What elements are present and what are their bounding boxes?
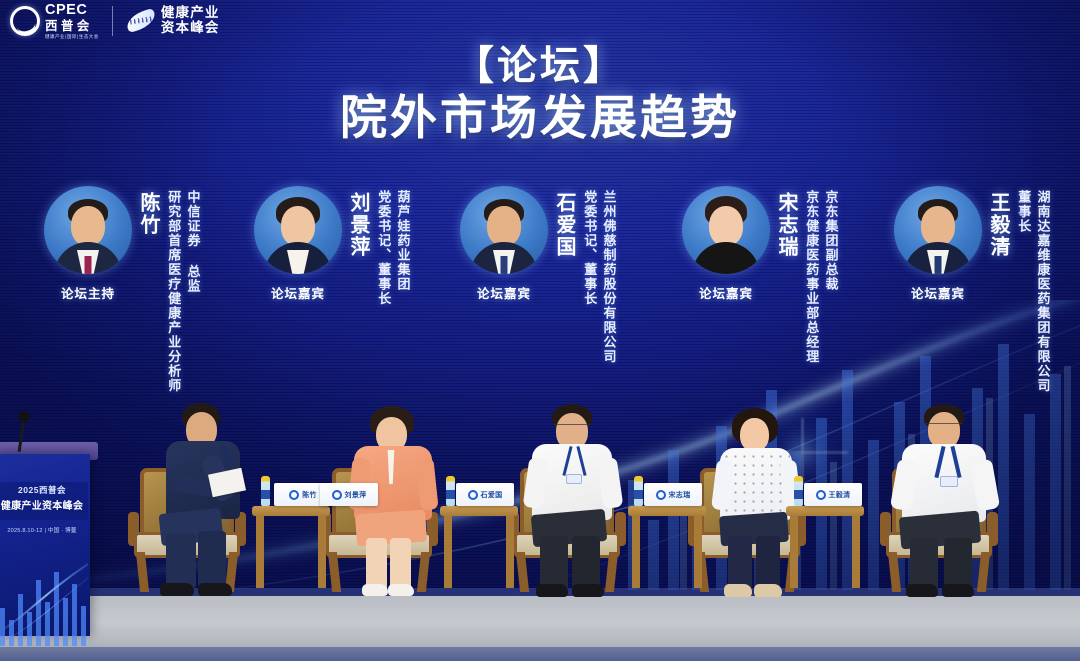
cpec-circle-icon xyxy=(10,6,40,36)
water-bottle xyxy=(794,476,803,506)
side-table-3: 宋志瑞 xyxy=(628,506,706,588)
side-table-4: 王毅清 xyxy=(786,506,864,588)
podium-line3: 2025.8.10-12 | 中国 · 博鳌 xyxy=(0,526,88,534)
panelist-title-line-0: 湖南达嘉维康医药集团有限公司 xyxy=(1034,190,1050,393)
panelist-role: 论坛主持 xyxy=(61,283,115,302)
panelist-card-4: 论坛嘉宾 王毅清 湖南达嘉维康医药集团有限公司 董事长 xyxy=(892,186,1051,393)
attendee-badge xyxy=(566,474,582,484)
nameplate-text: 刘景萍 xyxy=(345,490,367,500)
panelist-titles: 湖南达嘉维康医药集团有限公司 董事长 xyxy=(1012,190,1051,393)
panelist-titles: 葫芦娃药业集团 党委书记、董事长 xyxy=(372,190,411,306)
forum-title: 【论坛】 院外市场发展趋势 xyxy=(0,44,1080,145)
panelist-card-3: 论坛嘉宾 宋志瑞 京东集团副总裁 京东健康医药事业部总经理 xyxy=(680,186,839,364)
leaf-icon xyxy=(126,9,156,33)
podium-line2: 健康产业资本峰会 xyxy=(0,497,88,512)
panelist-title-line-0: 中信证券 总监 xyxy=(184,190,200,393)
summit-logo-line2: 资本峰会 xyxy=(161,21,220,36)
cpec-logo-english: CPEC xyxy=(45,3,99,18)
panelist-card-0: 论坛主持 陈竹 中信证券 总监 研究部首席医疗健康产业分析师 xyxy=(42,186,201,393)
panelist-title-line-0: 葫芦娃药业集团 xyxy=(394,190,410,306)
panelist-title-line-1: 董事长 xyxy=(1015,190,1031,393)
water-bottle xyxy=(634,476,643,506)
panelist-role: 论坛嘉宾 xyxy=(477,283,531,302)
nameplate-text: 宋志瑞 xyxy=(669,490,691,500)
cpec-logo: CPEC 西普会 健康产业(国际)生态大会 xyxy=(10,3,99,39)
nameplate-logo-icon xyxy=(332,490,342,500)
podium-line1: 2025西普会 xyxy=(0,484,88,496)
panelist-titles: 兰州佛慈制药股份有限公司 党委书记、董事长 xyxy=(578,190,617,364)
summit-logo-line1: 健康产业 xyxy=(161,6,220,21)
nameplate-logo-icon xyxy=(468,490,478,500)
panelist-title-line-1: 研究部首席医疗健康产业分析师 xyxy=(165,190,181,393)
panelist-name: 陈竹 xyxy=(138,192,158,236)
podium-banner: 2025西普会 健康产业资本峰会 2025.8.10-12 | 中国 · 博鳌 xyxy=(0,454,90,636)
forum-title-line2: 院外市场发展趋势 xyxy=(0,91,1080,145)
panelist-title-line-1: 党委书记、董事长 xyxy=(581,190,597,364)
cpec-logo-subtitle: 健康产业(国际)生态大会 xyxy=(45,35,99,40)
panelist-title-line-1: 党委书记、董事长 xyxy=(375,190,391,306)
nameplate-shi-aiguo: 石爱国 xyxy=(456,483,514,506)
podium-title-band: 2025西普会 健康产业资本峰会 xyxy=(0,482,88,520)
panelist-photo xyxy=(44,186,132,274)
nameplate-logo-icon xyxy=(656,490,666,500)
panelist-card-1: 论坛嘉宾 刘景萍 葫芦娃药业集团 党委书记、董事长 xyxy=(252,186,411,306)
conference-stage-photo: CPEC 西普会 健康产业(国际)生态大会 健康产业 资本峰会 【论坛】 院外市… xyxy=(0,0,1080,661)
panelist-photo xyxy=(894,186,982,274)
nameplate-text: 陈竹 xyxy=(302,490,317,500)
panelist-title-line-1: 京东健康医药事业部总经理 xyxy=(803,190,819,364)
health-capital-summit-logo: 健康产业 资本峰会 xyxy=(126,6,220,35)
water-bottle xyxy=(261,476,270,506)
panelist-name: 王毅清 xyxy=(988,192,1008,258)
water-bottle xyxy=(446,476,455,506)
nameplate-wang-yiqing: 王毅清 xyxy=(804,483,862,506)
panel-seating-area: 陈竹 刘景萍 石爱国 宋志瑞 xyxy=(0,400,1080,630)
eyeglasses-icon xyxy=(554,424,590,432)
side-table-0: 陈竹 xyxy=(252,506,330,588)
person-shi-aiguo xyxy=(520,404,640,598)
side-table-2: 石爱国 xyxy=(440,506,518,588)
panelist-photo xyxy=(682,186,770,274)
panelist-title-line-0: 兰州佛慈制药股份有限公司 xyxy=(600,190,616,364)
nameplate-song-zhirui: 宋志瑞 xyxy=(644,483,702,506)
panelist-titles: 京东集团副总裁 京东健康医药事业部总经理 xyxy=(800,190,839,364)
nameplate-text: 石爱国 xyxy=(481,490,503,500)
panelist-titles: 中信证券 总监 研究部首席医疗健康产业分析师 xyxy=(162,190,201,393)
panelist-photo xyxy=(254,186,342,274)
panelist-title-line-0: 京东集团副总裁 xyxy=(822,190,838,364)
person-wang-yiqing xyxy=(892,404,1012,598)
panelist-name: 宋志瑞 xyxy=(776,192,796,258)
nameplate-liu-jingping: 刘景萍 xyxy=(320,483,378,506)
nameplate-logo-icon xyxy=(816,490,826,500)
panelist-name: 石爱国 xyxy=(554,192,574,258)
panelist-role: 论坛嘉宾 xyxy=(271,283,325,302)
panelist-role: 论坛嘉宾 xyxy=(911,283,965,302)
logo-divider xyxy=(112,6,113,36)
podium-chart-graphic xyxy=(0,550,88,646)
forum-title-line1: 【论坛】 xyxy=(0,44,1080,89)
panelist-cards: 论坛主持 陈竹 中信证券 总监 研究部首席医疗健康产业分析师 论坛嘉宾 刘景萍 xyxy=(30,186,1060,436)
cpec-logo-chinese: 西普会 xyxy=(45,20,99,33)
eyeglasses-icon xyxy=(926,423,962,431)
panelist-role: 论坛嘉宾 xyxy=(699,283,753,302)
panelist-name: 刘景萍 xyxy=(348,192,368,258)
logo-bar: CPEC 西普会 健康产业(国际)生态大会 健康产业 资本峰会 xyxy=(10,3,220,39)
panelist-photo xyxy=(460,186,548,274)
nameplate-logo-icon xyxy=(289,490,299,500)
panelist-card-2: 论坛嘉宾 石爱国 兰州佛慈制药股份有限公司 党委书记、董事长 xyxy=(458,186,617,364)
nameplate-text: 王毅清 xyxy=(829,490,851,500)
podium: 2025西普会 健康产业资本峰会 2025.8.10-12 | 中国 · 博鳌 xyxy=(0,440,102,636)
attendee-badge xyxy=(940,476,958,487)
blouse-pattern xyxy=(722,452,790,516)
